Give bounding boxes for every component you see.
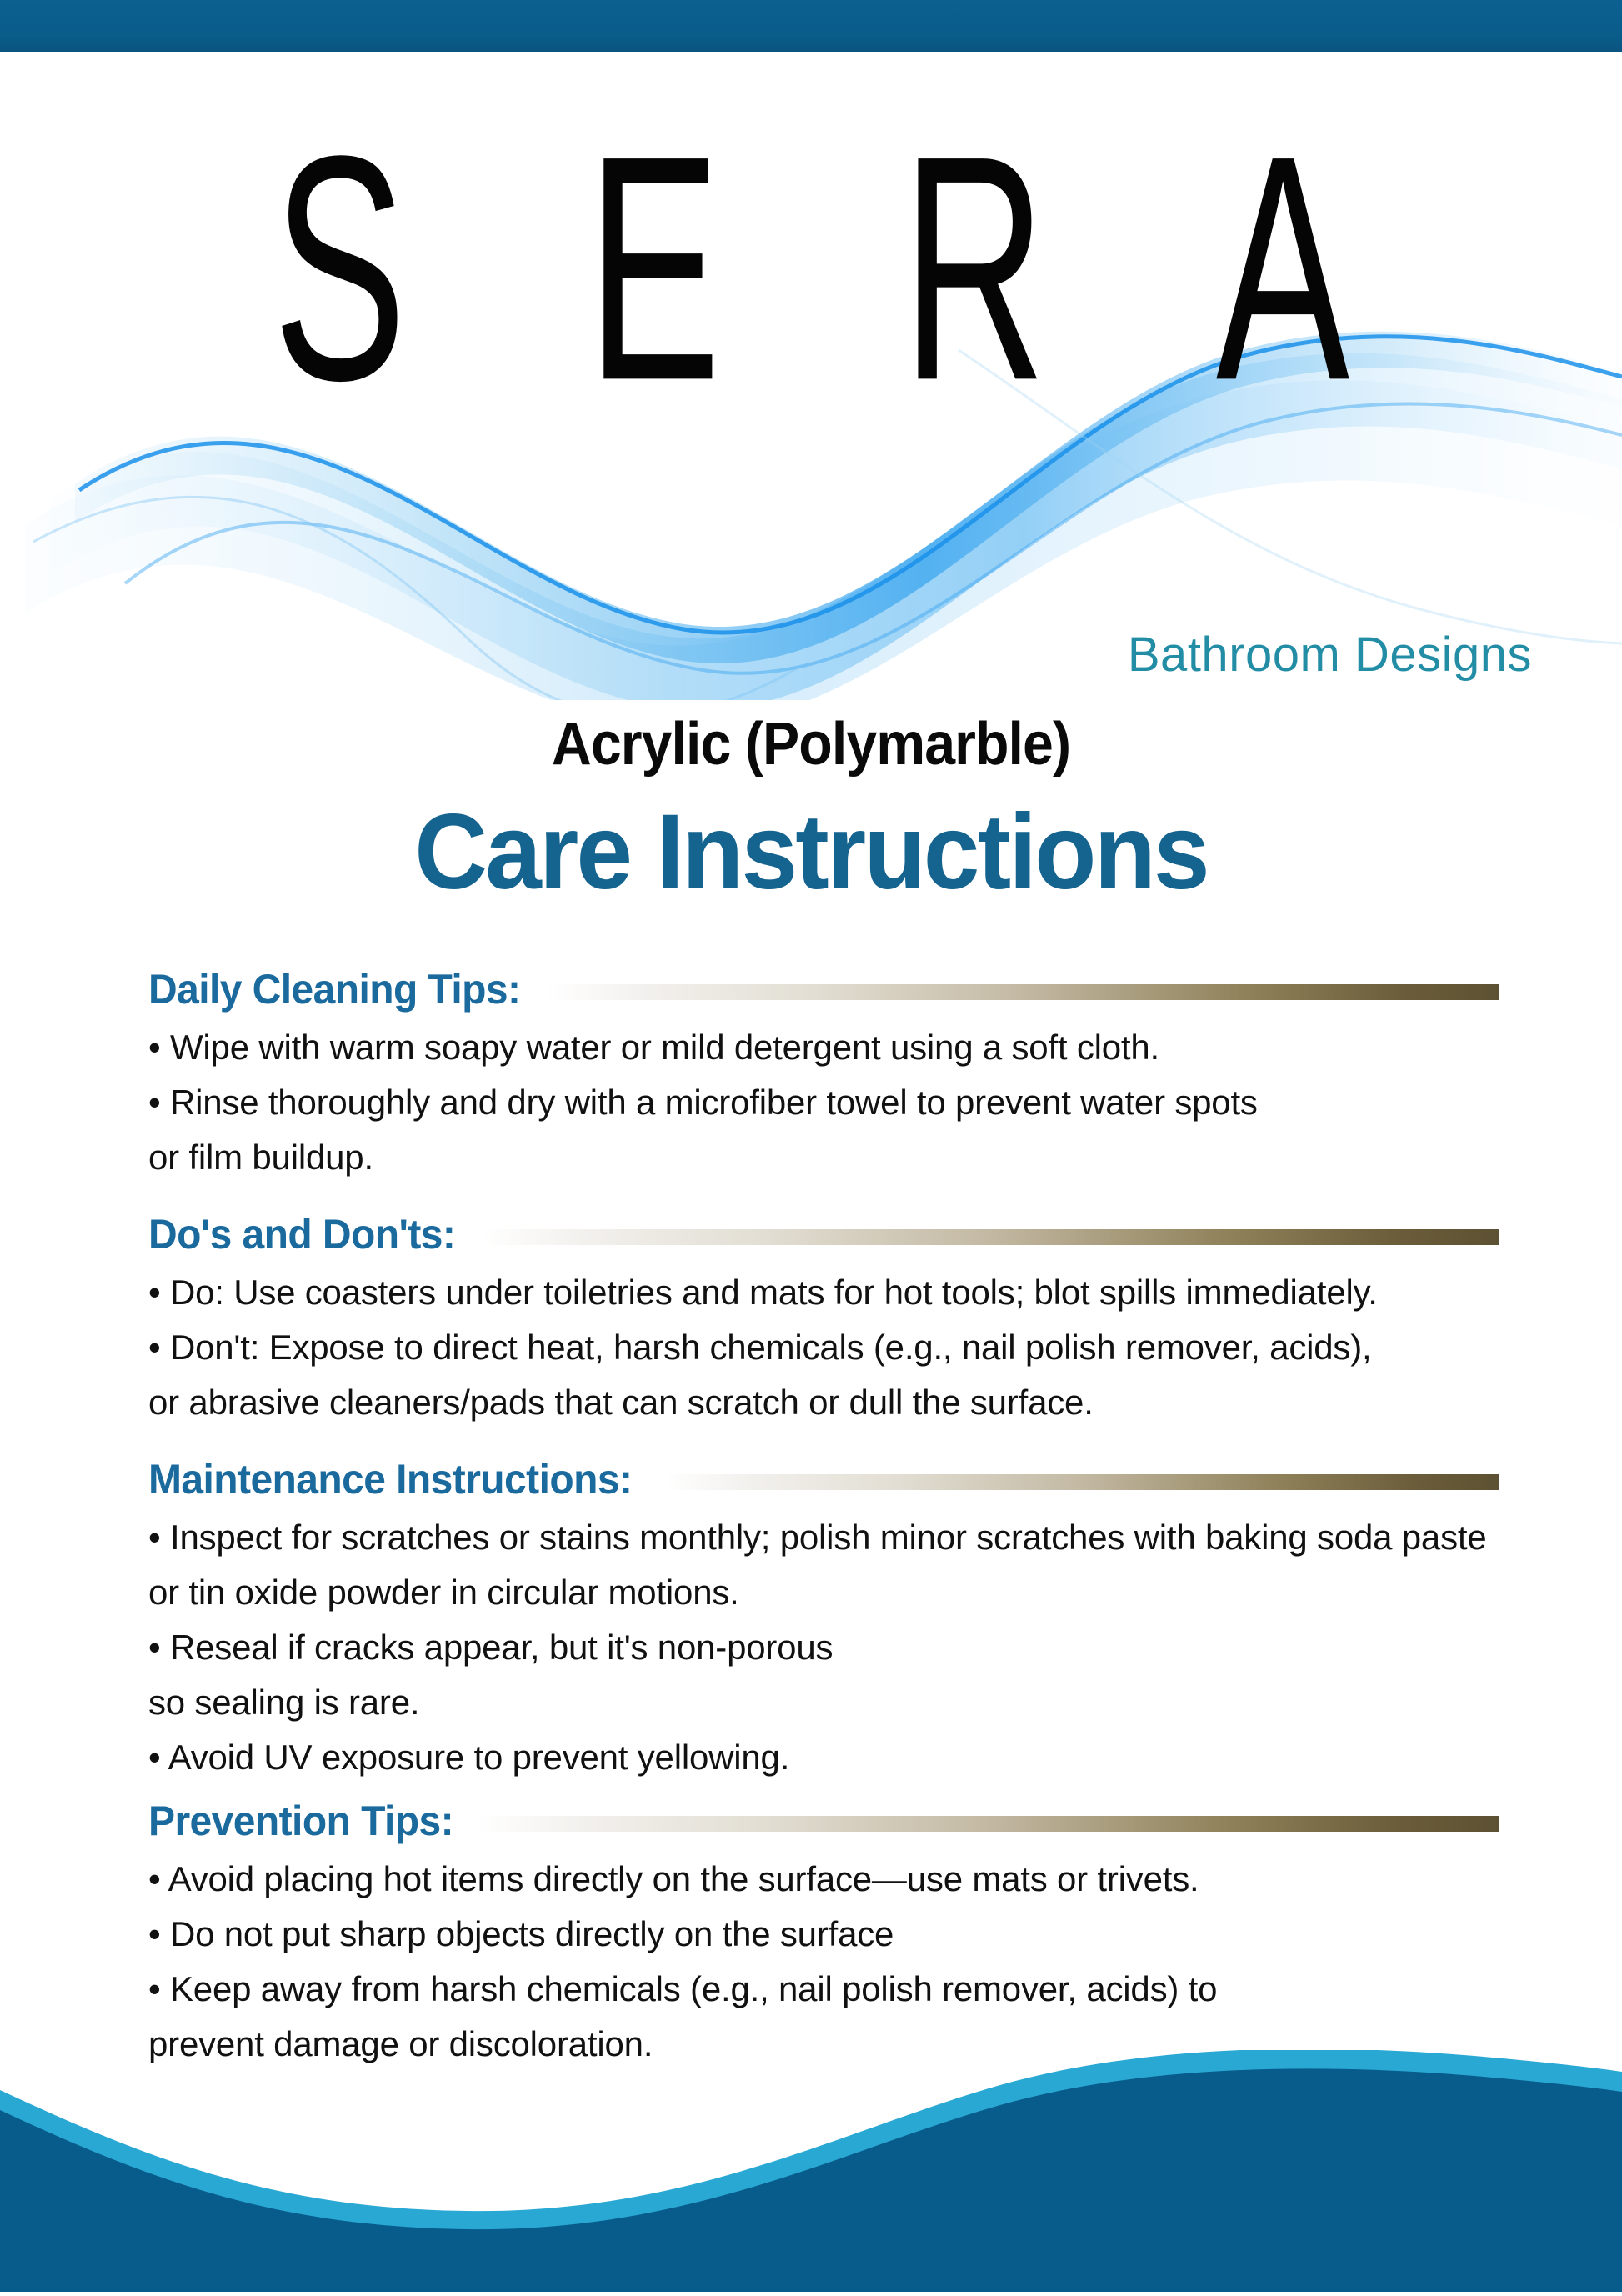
page-title: Care Instructions <box>41 798 1582 907</box>
section-heading: Do's and Don'ts: <box>148 1210 455 1258</box>
bullet-line: • Avoid UV exposure to prevent yellowing… <box>148 1730 1499 1785</box>
brand-logo: S E R A <box>0 92 1622 392</box>
bullet-line: or tin oxide powder in circular motions. <box>148 1565 1499 1620</box>
bullet-line: • Avoid placing hot items directly on th… <box>148 1852 1499 1907</box>
bullet-line: • Wipe with warm soapy water or mild det… <box>148 1020 1499 1075</box>
section-divider-rule <box>478 1816 1499 1832</box>
bullet-line: or film buildup. <box>148 1130 1499 1185</box>
section-header: Daily Cleaning Tips: <box>148 965 1499 1013</box>
bullet-line: or abrasive cleaners/pads that can scrat… <box>148 1375 1499 1430</box>
section-header: Maintenance Instructions: <box>148 1455 1499 1503</box>
section-spacer <box>148 1430 1499 1455</box>
bullet-line: • Inspect for scratches or stains monthl… <box>148 1510 1499 1565</box>
bullet-line: • Don't: Expose to direct heat, harsh ch… <box>148 1320 1499 1375</box>
section-spacer <box>148 1185 1499 1210</box>
section-divider-rule <box>480 1229 1499 1245</box>
section-prevention-tips: Prevention Tips: • Avoid placing hot ite… <box>148 1797 1499 2072</box>
bullet-line: so sealing is rare. <box>148 1675 1499 1730</box>
top-accent-bar <box>0 0 1622 52</box>
bullet-line: • Keep away from harsh chemicals (e.g., … <box>148 1962 1499 2017</box>
page-subtitle: Acrylic (Polymarble) <box>65 710 1557 778</box>
section-divider-rule <box>548 984 1499 1000</box>
section-maintenance-instructions: Maintenance Instructions: • Inspect for … <box>148 1455 1499 1785</box>
footer-wave-graphic <box>0 2050 1622 2292</box>
wave-tail-line <box>33 497 800 700</box>
section-header: Prevention Tips: <box>148 1797 1499 1845</box>
section-heading: Maintenance Instructions: <box>148 1455 632 1503</box>
bullet-line: • Reseal if cracks appear, but it's non-… <box>148 1620 1499 1675</box>
brand-tagline: Bathroom Designs <box>1128 627 1532 683</box>
section-header: Do's and Don'ts: <box>148 1210 1499 1258</box>
footer-wave-svg <box>0 2050 1622 2292</box>
footer-wave-dark <box>0 2068 1622 2292</box>
section-heading: Daily Cleaning Tips: <box>148 965 520 1013</box>
section-dos-and-donts: Do's and Don'ts: • Do: Use coasters unde… <box>148 1210 1499 1430</box>
instructions-content: Daily Cleaning Tips: • Wipe with warm so… <box>148 965 1499 2072</box>
bullet-line: • Do: Use coasters under toiletries and … <box>148 1265 1499 1320</box>
section-divider-rule <box>664 1474 1499 1490</box>
section-spacer <box>148 1785 1499 1797</box>
bullet-line: • Rinse thoroughly and dry with a microf… <box>148 1075 1499 1130</box>
section-daily-cleaning-tips: Daily Cleaning Tips: • Wipe with warm so… <box>148 965 1499 1185</box>
brand-logo-text: S E R A <box>210 92 1412 443</box>
bullet-line: • Do not put sharp objects directly on t… <box>148 1907 1499 1962</box>
section-heading: Prevention Tips: <box>148 1797 453 1845</box>
